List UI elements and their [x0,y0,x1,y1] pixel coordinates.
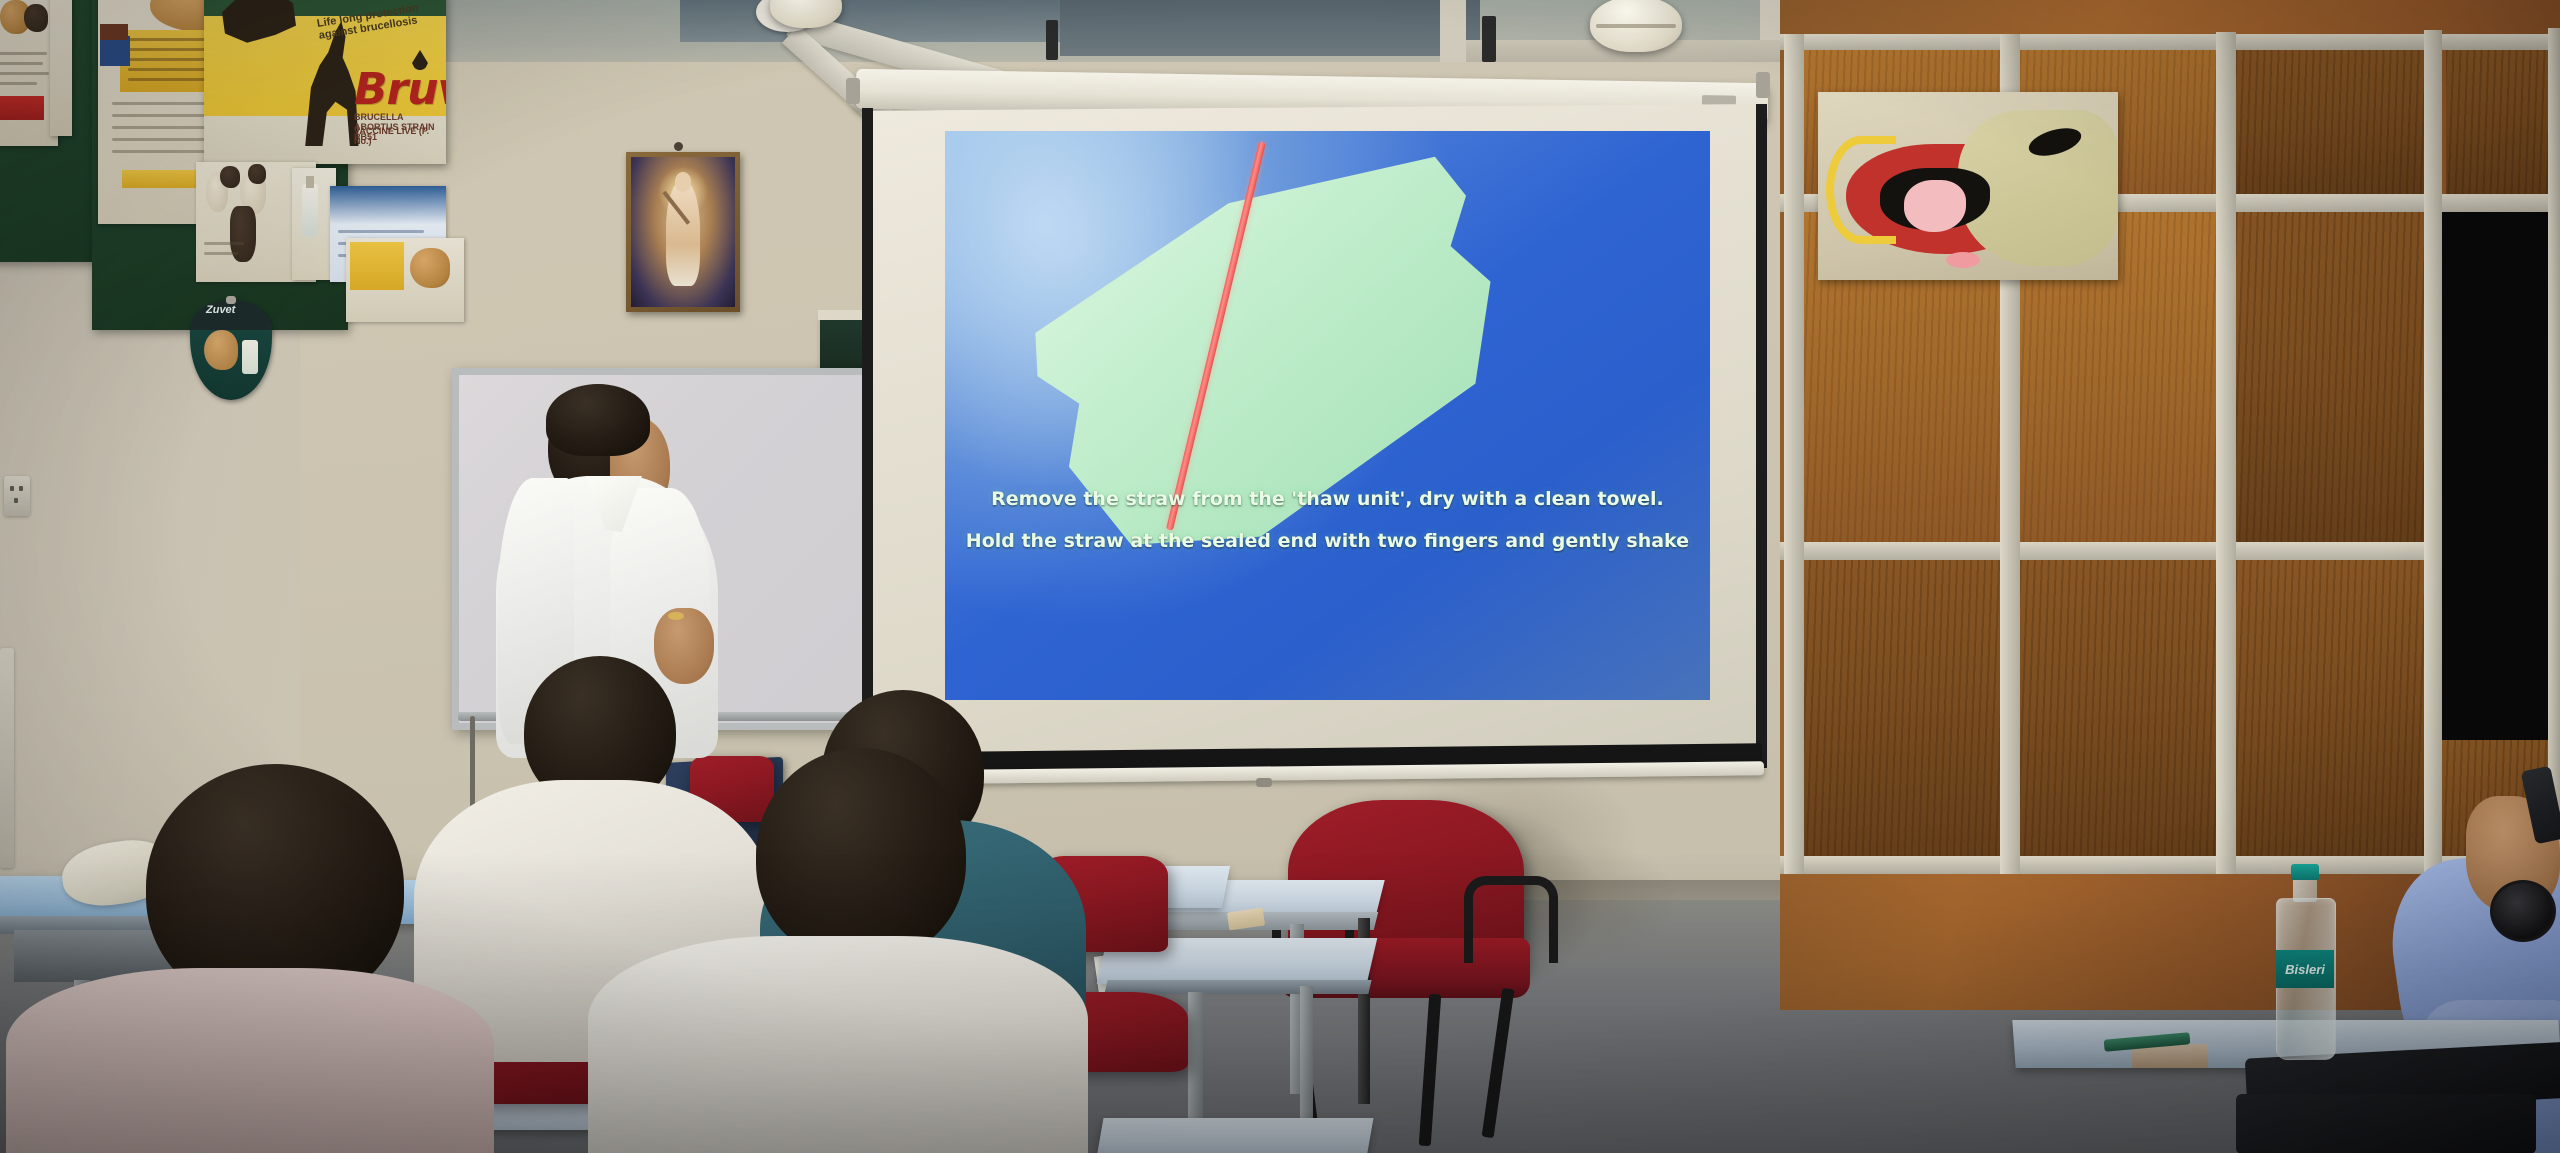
projected-slide: Remove the straw from the 'thaw unit', d… [945,131,1710,701]
attendee-torso-3 [6,968,494,1153]
desk-front-center-top[interactable] [1096,1118,1373,1153]
poster-strip [50,0,72,136]
picture-hook [674,142,683,151]
screen-roller-end-right [1756,72,1770,98]
screen-pull-hook[interactable] [1256,778,1272,787]
slide-caption-line-2: Hold the straw at the sealed end with tw… [945,529,1710,554]
poster-cow-calf [1818,92,2118,280]
presenter-hands [654,608,714,684]
attendee-head-4 [756,748,966,962]
bag-dark-lower [2236,1094,2536,1153]
water-bottle[interactable]: Bisleri [2276,898,2334,1058]
bruvax-tagline: Life long protection against brucellosis [316,0,446,42]
framed-picture-saraswati [626,152,740,312]
mini-poster-bottom [346,238,464,322]
classroom-photo: Life long protection against brucellosis… [0,0,2560,1153]
bottle-brand: Bisleri [2285,962,2325,977]
wall-conduit [0,648,14,868]
attendee-torso-4 [588,936,1088,1153]
chair-red-arm-right [1464,876,1558,963]
screen-casing-badge [1702,95,1736,106]
screen-border-right [1756,104,1767,768]
screen-border-left [862,108,873,768]
wristwatch [2490,880,2556,942]
bruvax-subtext-2: VACCINE LIVE (P. No.) [354,126,446,146]
screen-bracket-left [1046,20,1058,60]
bruvax-brand: Bruvax [354,64,446,115]
hanging-ad-brand: Zuvet [206,304,235,316]
hanging-ad-tab [226,296,236,304]
bottle-label: Bisleri [2276,950,2334,988]
projector-screen[interactable]: Remove the straw from the 'thaw unit', d… [866,104,1762,774]
ceiling-recess-2 [1060,0,1480,56]
bottle-cap [2291,864,2319,880]
presenter-ring [668,612,684,620]
slide-caption-line-1: Remove the straw from the 'thaw unit', d… [945,487,1710,512]
screen-bracket-right [1482,16,1496,62]
poster-bruvax: Life long protection against brucellosis… [204,0,446,164]
wall-socket [4,476,30,516]
presenter-hair [546,384,650,456]
screen-roller-end-left [846,78,860,104]
